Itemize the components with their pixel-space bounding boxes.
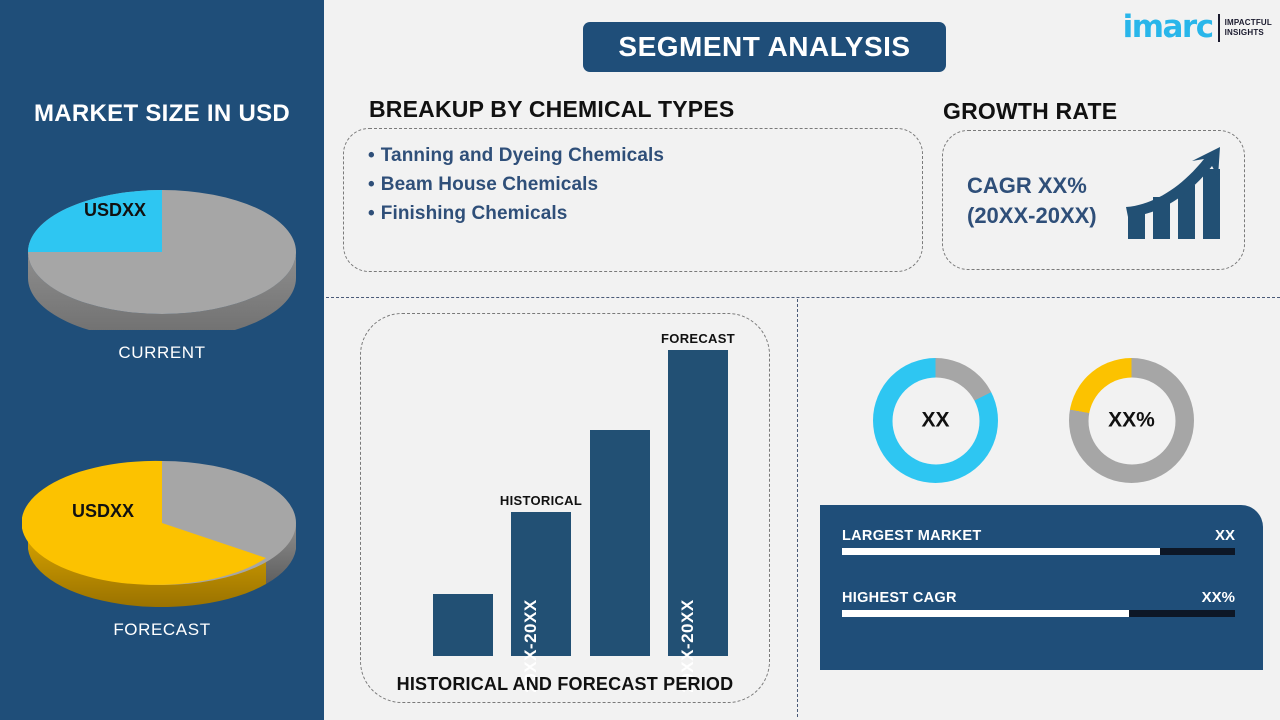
current-caption: CURRENT [22, 343, 302, 363]
main-content: SEGMENT ANALYSIS imarc IMPACTFUL INSIGHT… [324, 0, 1280, 720]
cagr-line-2: (20XX-20XX) [967, 201, 1097, 231]
historical-label: HISTORICAL [500, 493, 582, 508]
units-donut-value: XX [892, 377, 979, 464]
list-item: •Beam House Chemicals [368, 170, 664, 199]
highest-cagr-value: XX% [1202, 589, 1235, 606]
period-bar-chart: HISTORICAL 20XX-20XX FORECAST 20XX-20XX … [360, 313, 770, 703]
share-donut-value: XX% [1088, 377, 1175, 464]
units-donut: XX [873, 358, 998, 483]
largest-market-label: LARGEST MARKET [842, 528, 982, 544]
cagr-line-1: CAGR XX% [967, 171, 1097, 201]
chemical-types-heading: BREAKUP BY CHEMICAL TYPES [369, 96, 734, 123]
share-donut: XX% [1069, 358, 1194, 483]
chemical-types-list: •Tanning and Dyeing Chemicals •Beam Hous… [368, 141, 664, 228]
vertical-divider [797, 299, 798, 717]
imarc-logo: imarc IMPACTFUL INSIGHTS [1123, 12, 1272, 43]
highest-cagr-label: HIGHEST CAGR [842, 590, 957, 606]
forecast-caption: FORECAST [22, 620, 302, 640]
cagr-value: CAGR XX% (20XX-20XX) [967, 171, 1097, 231]
infographic-canvas: MARKET SIZE IN USD USDXX CURRENT [0, 0, 1280, 720]
growth-arrow-chart-icon [1122, 145, 1230, 250]
bar-4: FORECAST 20XX-20XX [668, 350, 728, 656]
list-item: •Tanning and Dyeing Chemicals [368, 141, 664, 170]
bar-1 [433, 594, 493, 656]
horizontal-divider [326, 297, 1280, 298]
largest-market-value: XX [1215, 527, 1235, 544]
bullet-icon: • [368, 145, 375, 166]
bullet-icon: • [368, 203, 375, 224]
market-stats-panel: LARGEST MARKET XX HIGHEST CAGR XX% [820, 505, 1263, 670]
highest-cagr-progress-track [842, 610, 1235, 617]
forecast-pie-chart: USDXX FORECAST [22, 437, 302, 640]
list-item-label: Beam House Chemicals [381, 174, 598, 195]
stat-row-highest-cagr: HIGHEST CAGR XX% [842, 589, 1235, 617]
forecast-label: FORECAST [661, 331, 735, 346]
list-item: •Finishing Chemicals [368, 199, 664, 228]
stat-row-largest-market: LARGEST MARKET XX [842, 527, 1235, 555]
list-item-label: Tanning and Dyeing Chemicals [381, 145, 664, 166]
current-pie-svg [22, 160, 302, 330]
logo-tagline-line1: IMPACTFUL [1225, 18, 1272, 27]
page-title: SEGMENT ANALYSIS [583, 22, 946, 72]
logo-tagline: IMPACTFUL INSIGHTS [1225, 18, 1272, 38]
largest-market-progress-track [842, 548, 1235, 555]
growth-rate-heading: GROWTH RATE [943, 98, 1117, 125]
forecast-pie-svg [22, 437, 302, 607]
logo-divider-icon [1218, 14, 1220, 42]
market-size-title: MARKET SIZE IN USD [0, 100, 324, 128]
growth-rate-box: CAGR XX% (20XX-20XX) [942, 130, 1245, 270]
chemical-types-box: •Tanning and Dyeing Chemicals •Beam Hous… [343, 128, 923, 272]
current-pie-chart: USDXX CURRENT [22, 160, 302, 363]
logo-wordmark: imarc [1123, 12, 1213, 43]
market-size-panel: MARKET SIZE IN USD USDXX CURRENT [0, 0, 324, 720]
bullet-icon: • [368, 174, 375, 195]
logo-tagline-line2: INSIGHTS [1225, 28, 1264, 37]
list-item-label: Finishing Chemicals [381, 203, 568, 224]
largest-market-progress-fill [842, 548, 1160, 555]
period-chart-caption: HISTORICAL AND FORECAST PERIOD [360, 674, 770, 695]
bar-3 [590, 430, 650, 656]
highest-cagr-progress-fill [842, 610, 1129, 617]
bar-2: HISTORICAL 20XX-20XX [511, 512, 571, 656]
